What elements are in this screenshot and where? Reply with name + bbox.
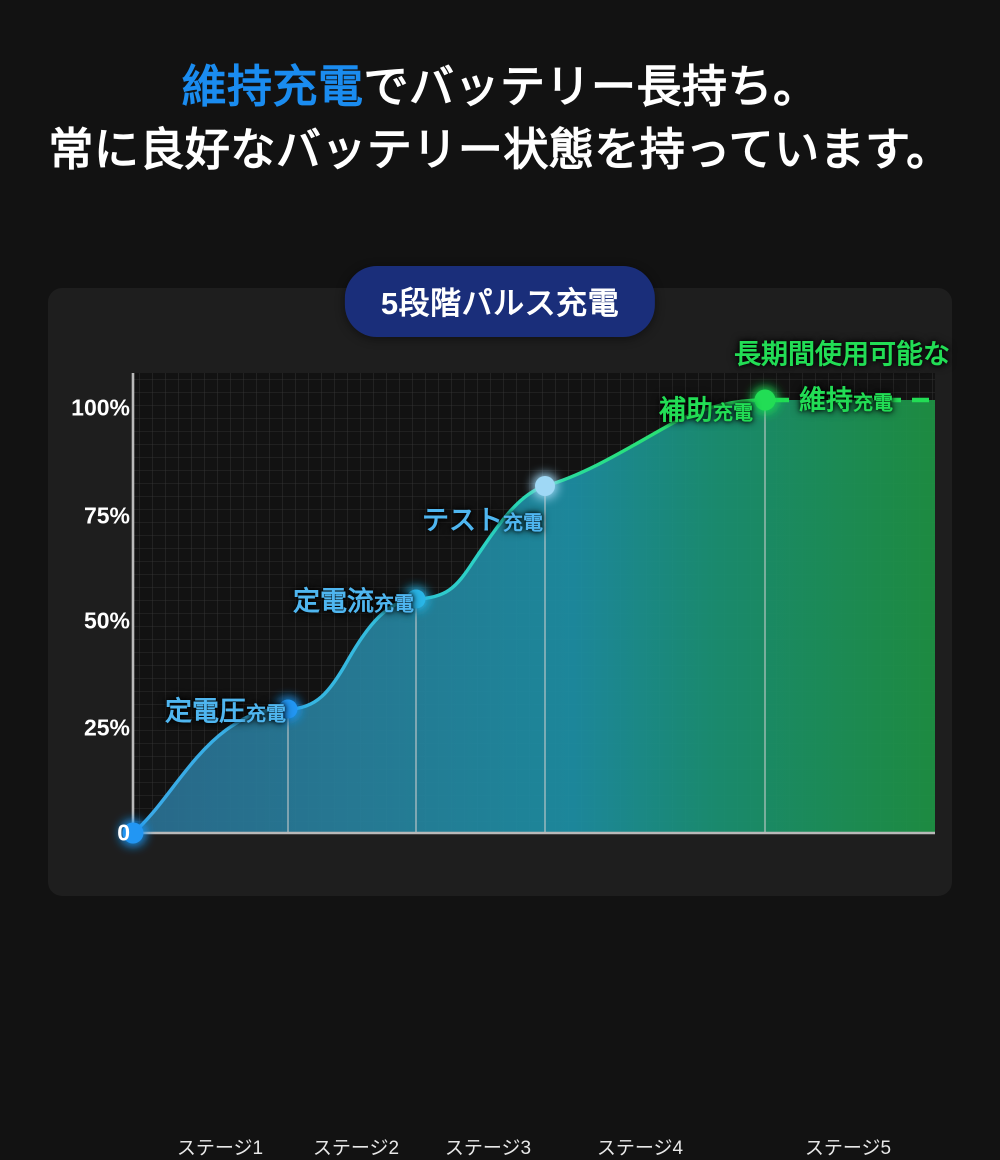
node-stage4 [755, 390, 776, 411]
x-tick-label-stage-3: ステージ3 [408, 1133, 568, 1160]
node-stage3 [535, 476, 555, 496]
chart-title-badge: 5段階パルス充電 [345, 266, 655, 337]
y-tick-label-50: 50% [56, 608, 130, 635]
headline-line-1: 維持充電でバッテリー長持ち。 [0, 58, 1000, 117]
promo-page: 維持充電でバッテリー長持ち。 常に良好なバッテリー状態を持っています。 5段階パ… [0, 0, 1000, 1000]
y-tick-label-100: 100% [56, 395, 130, 422]
pulse-charge-chart: 100% 75% 50% 25% 0 ステージ1 ステージ2 ステージ3 ステー… [48, 288, 952, 896]
y-tick-label-75: 75% [56, 503, 130, 530]
headline-accent-text: 維持充電 [181, 61, 363, 112]
chart-svg [48, 288, 952, 896]
y-tick-label-0: 0 [56, 820, 130, 847]
headline-line-2: 常に良好なバッテリー状態を持っています。 [0, 121, 1000, 180]
headline: 維持充電でバッテリー長持ち。 常に良好なバッテリー状態を持っています。 [0, 58, 1000, 179]
x-tick-label-stage-5: ステージ5 [768, 1133, 928, 1160]
x-tick-label-stage-4: ステージ4 [560, 1133, 720, 1160]
y-tick-label-25: 25% [56, 715, 130, 742]
node-stage1 [279, 700, 298, 719]
headline-line-1-rest: でバッテリー長持ち。 [364, 61, 819, 112]
node-stage2 [407, 590, 426, 609]
